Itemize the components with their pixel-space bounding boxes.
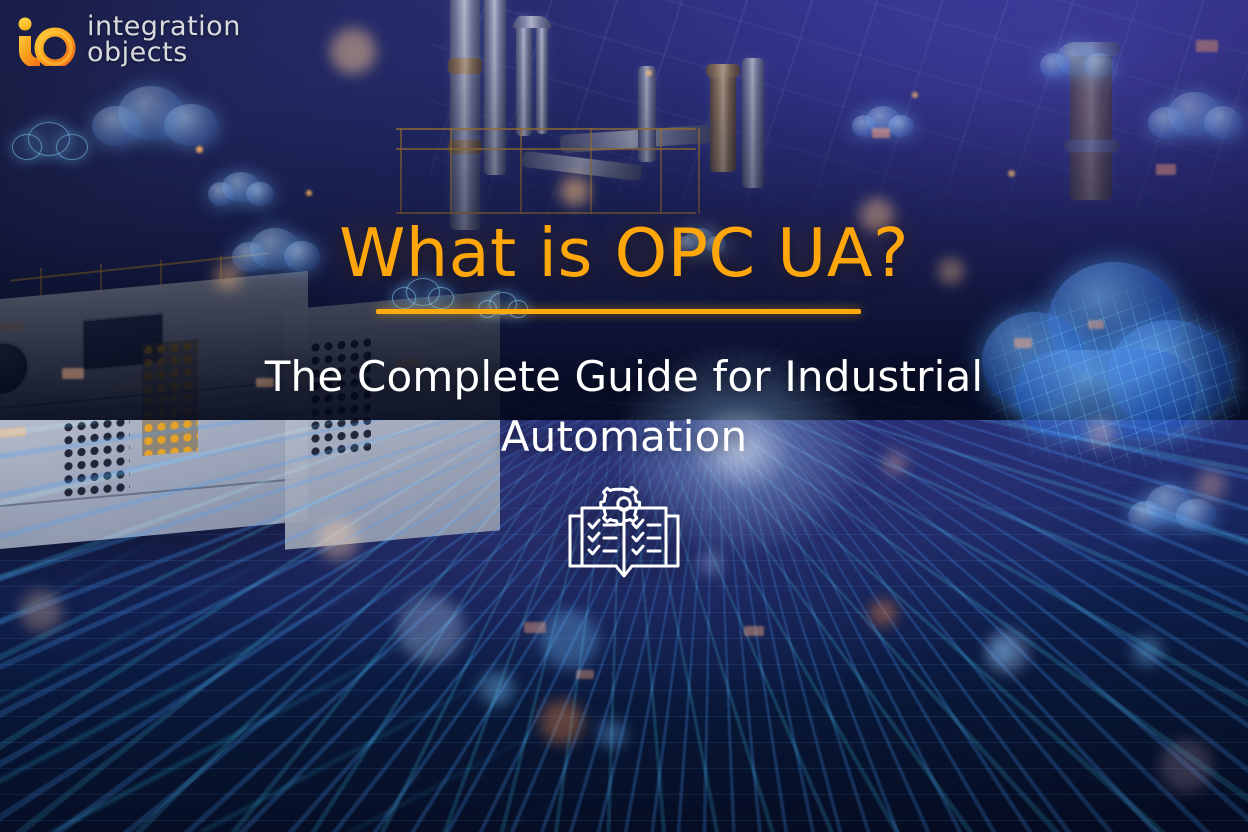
page-title: What is OPC UA? [0, 214, 1248, 292]
title-divider [376, 309, 861, 314]
page-subtitle: The Complete Guide for Industrial Automa… [244, 347, 1004, 468]
open-book-checklist-gear-icon [566, 486, 682, 584]
hero-content: What is OPC UA? The Complete Guide for I… [0, 0, 1248, 832]
io-monogram-icon [14, 14, 76, 66]
logo-text-line2: objects [87, 40, 241, 66]
hero-banner: integration objects What is OPC UA? The … [0, 0, 1248, 832]
brand-logo[interactable]: integration objects [14, 14, 241, 66]
